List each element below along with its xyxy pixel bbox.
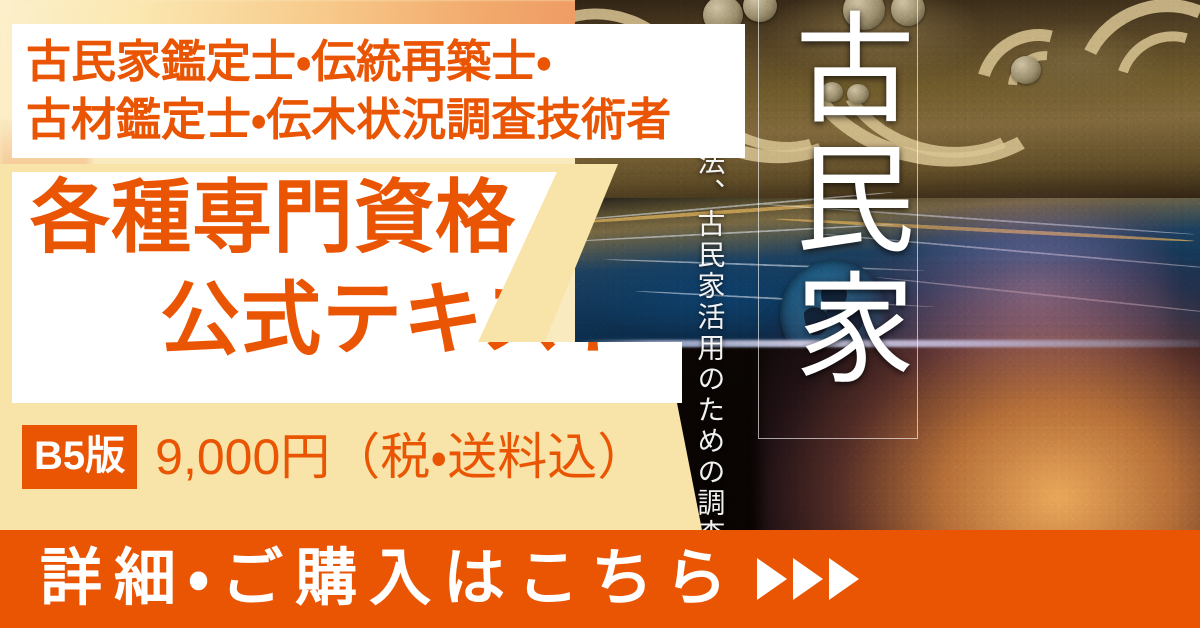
triangle-right-icon bbox=[829, 558, 859, 600]
main-title-line-1: 各種専門資格 bbox=[30, 178, 516, 258]
carved-boss-small bbox=[1011, 56, 1041, 84]
qualifications-line-2: 古材鑑定士・伝木状況調査技術者 bbox=[12, 91, 745, 150]
cta-arrow-group bbox=[757, 558, 859, 600]
qualifications-panel: 古民家鑑定士・伝統再築士・ 古材鑑定士・伝木状況調査技術者 bbox=[12, 24, 745, 158]
price-row: B5版 9,000円（税・送料込） bbox=[22, 425, 647, 489]
format-badge-b5: B5版 bbox=[22, 425, 137, 489]
cover-title: 古民家 bbox=[761, 6, 916, 396]
qualifications-line-1: 古民家鑑定士・伝統再築士・ bbox=[12, 33, 745, 92]
triangle-right-icon bbox=[793, 558, 823, 600]
triangle-right-icon bbox=[757, 558, 787, 600]
cta-bar[interactable]: 詳細・ご購入はこちら bbox=[0, 530, 1200, 628]
price-band: B5版 9,000円（税・送料込） bbox=[0, 403, 720, 530]
promo-banner: 伝統構法、古民家活用のための調査と再生の 古民家 古民家鑑定士・伝統再築士・ 古… bbox=[0, 0, 1200, 628]
price-amount: 9,000円（税・送料込） bbox=[155, 432, 647, 482]
cta-label: 詳細・ご購入はこちら bbox=[40, 548, 739, 610]
